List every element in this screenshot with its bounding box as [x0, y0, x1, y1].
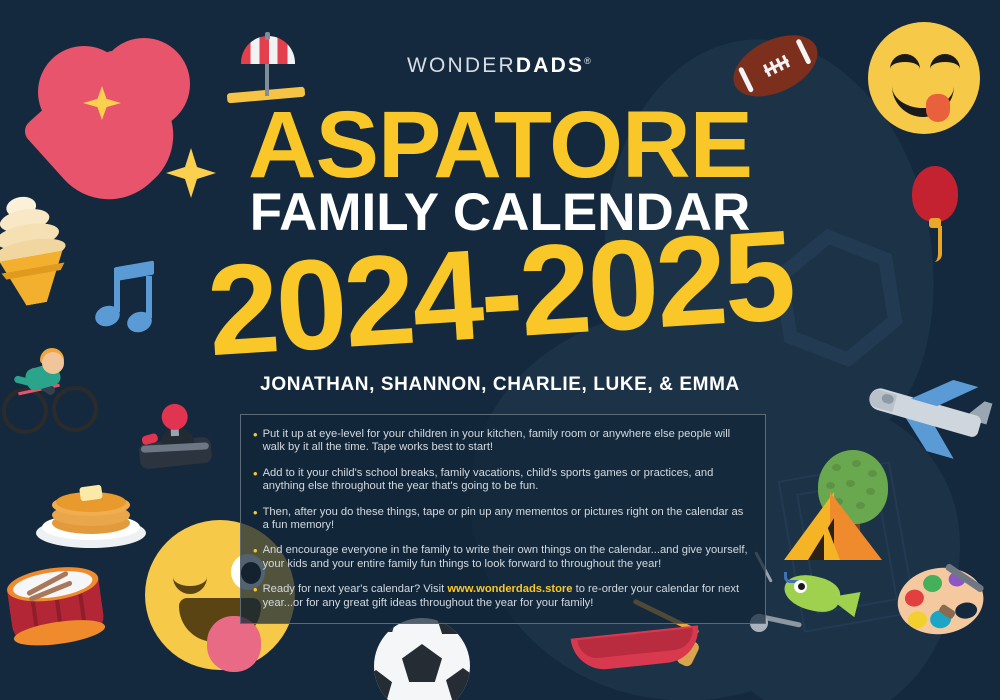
pancakes-icon — [36, 480, 146, 554]
wonderdads-logo: WONDERDADS® — [0, 54, 1000, 78]
page-title: ASPATORE — [0, 98, 1000, 193]
family-member-names: JONATHAN, SHANNON, CHARLIE, LUKE, & EMMA — [0, 374, 1000, 396]
bullet-marker: • — [253, 544, 258, 571]
bullet-marker: • — [253, 428, 258, 455]
logo-registered-mark: ® — [584, 56, 593, 66]
logo-dads-text: DADS — [516, 54, 584, 77]
logo-wonder-text: WONDER — [407, 54, 516, 77]
tent-icon — [784, 492, 882, 564]
list-item: • Put it up at eye-level for your childr… — [253, 428, 749, 455]
calendar-cover-poster: WONDERDADS® ASPATORE FAMILY CALENDAR 202… — [0, 0, 1000, 700]
canoe-icon — [572, 618, 702, 684]
instruction-text: Put it up at eye-level for your children… — [263, 428, 749, 455]
drum-icon — [5, 560, 108, 656]
instruction-text: Add to it your child's school breaks, fa… — [263, 467, 749, 494]
list-item: • Add to it your child's school breaks, … — [253, 467, 749, 494]
bullet-marker: • — [253, 583, 258, 610]
instructions-box: • Put it up at eye-level for your childr… — [240, 414, 766, 624]
store-link[interactable]: www.wonderdads.store — [447, 583, 572, 595]
bullet-marker: • — [253, 506, 258, 533]
list-item: • Then, after you do these things, tape … — [253, 506, 749, 533]
bullet-marker: • — [253, 467, 258, 494]
fish-icon — [770, 560, 870, 630]
list-item: • And encourage everyone in the family t… — [253, 544, 749, 571]
soccer-ball-icon — [374, 618, 470, 700]
instruction-text: And encourage everyone in the family to … — [263, 544, 749, 571]
joystick-icon — [135, 400, 216, 477]
paint-palette-icon — [893, 562, 988, 645]
instruction-text: Then, after you do these things, tape or… — [263, 506, 749, 533]
instruction-text: Ready for next year's calendar? Visit ww… — [263, 583, 749, 610]
list-item: • Ready for next year's calendar? Visit … — [253, 583, 749, 610]
